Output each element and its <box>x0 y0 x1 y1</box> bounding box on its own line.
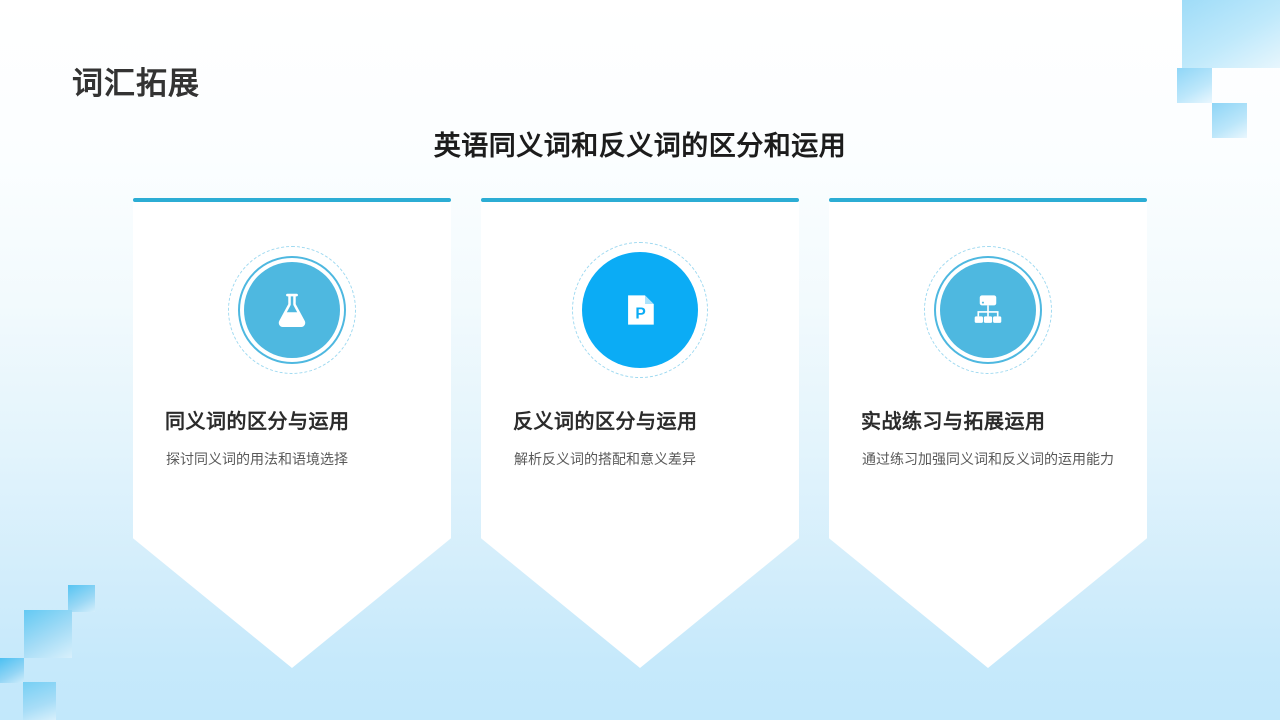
decor-square <box>1182 0 1280 68</box>
feature-card-antonyms[interactable]: P 反义词的区分与运用 解析反义词的搭配和意义差异 <box>481 198 799 668</box>
decor-square <box>1177 68 1212 103</box>
decor-square <box>23 682 56 720</box>
card-title: 实战练习与拓展运用 <box>861 405 1129 434</box>
icon-badge <box>924 246 1052 374</box>
feature-card-synonyms[interactable]: 同义词的区分与运用 探讨同义词的用法和语境选择 <box>133 198 451 668</box>
icon-circle: P <box>582 252 698 368</box>
icon-circle <box>244 262 340 358</box>
card-accent-bar <box>133 198 451 202</box>
decor-square <box>68 585 95 612</box>
icon-badge <box>228 246 356 374</box>
icon-circle <box>940 262 1036 358</box>
page-title: 词汇拓展 <box>72 58 200 103</box>
card-title: 同义词的区分与运用 <box>165 405 433 434</box>
document-p-icon: P <box>618 288 662 332</box>
card-description: 通过练习加强同义词和反义词的运用能力 <box>862 448 1119 471</box>
card-group: 同义词的区分与运用 探讨同义词的用法和语境选择 P 反义词的区分与运用 解析反义… <box>133 198 1147 668</box>
svg-text:P: P <box>635 305 645 322</box>
card-title: 反义词的区分与运用 <box>513 405 781 434</box>
main-heading: 英语同义词和反义词的区分和运用 <box>0 124 1280 163</box>
sitemap-icon <box>966 288 1010 332</box>
decor-square <box>0 658 24 683</box>
card-description: 解析反义词的搭配和意义差异 <box>514 448 771 471</box>
card-description: 探讨同义词的用法和语境选择 <box>166 448 423 471</box>
card-accent-bar <box>829 198 1147 202</box>
card-accent-bar <box>481 198 799 202</box>
flask-icon <box>269 287 315 333</box>
decor-square <box>24 610 72 658</box>
feature-card-practice[interactable]: 实战练习与拓展运用 通过练习加强同义词和反义词的运用能力 <box>829 198 1147 668</box>
icon-badge: P <box>576 246 704 374</box>
